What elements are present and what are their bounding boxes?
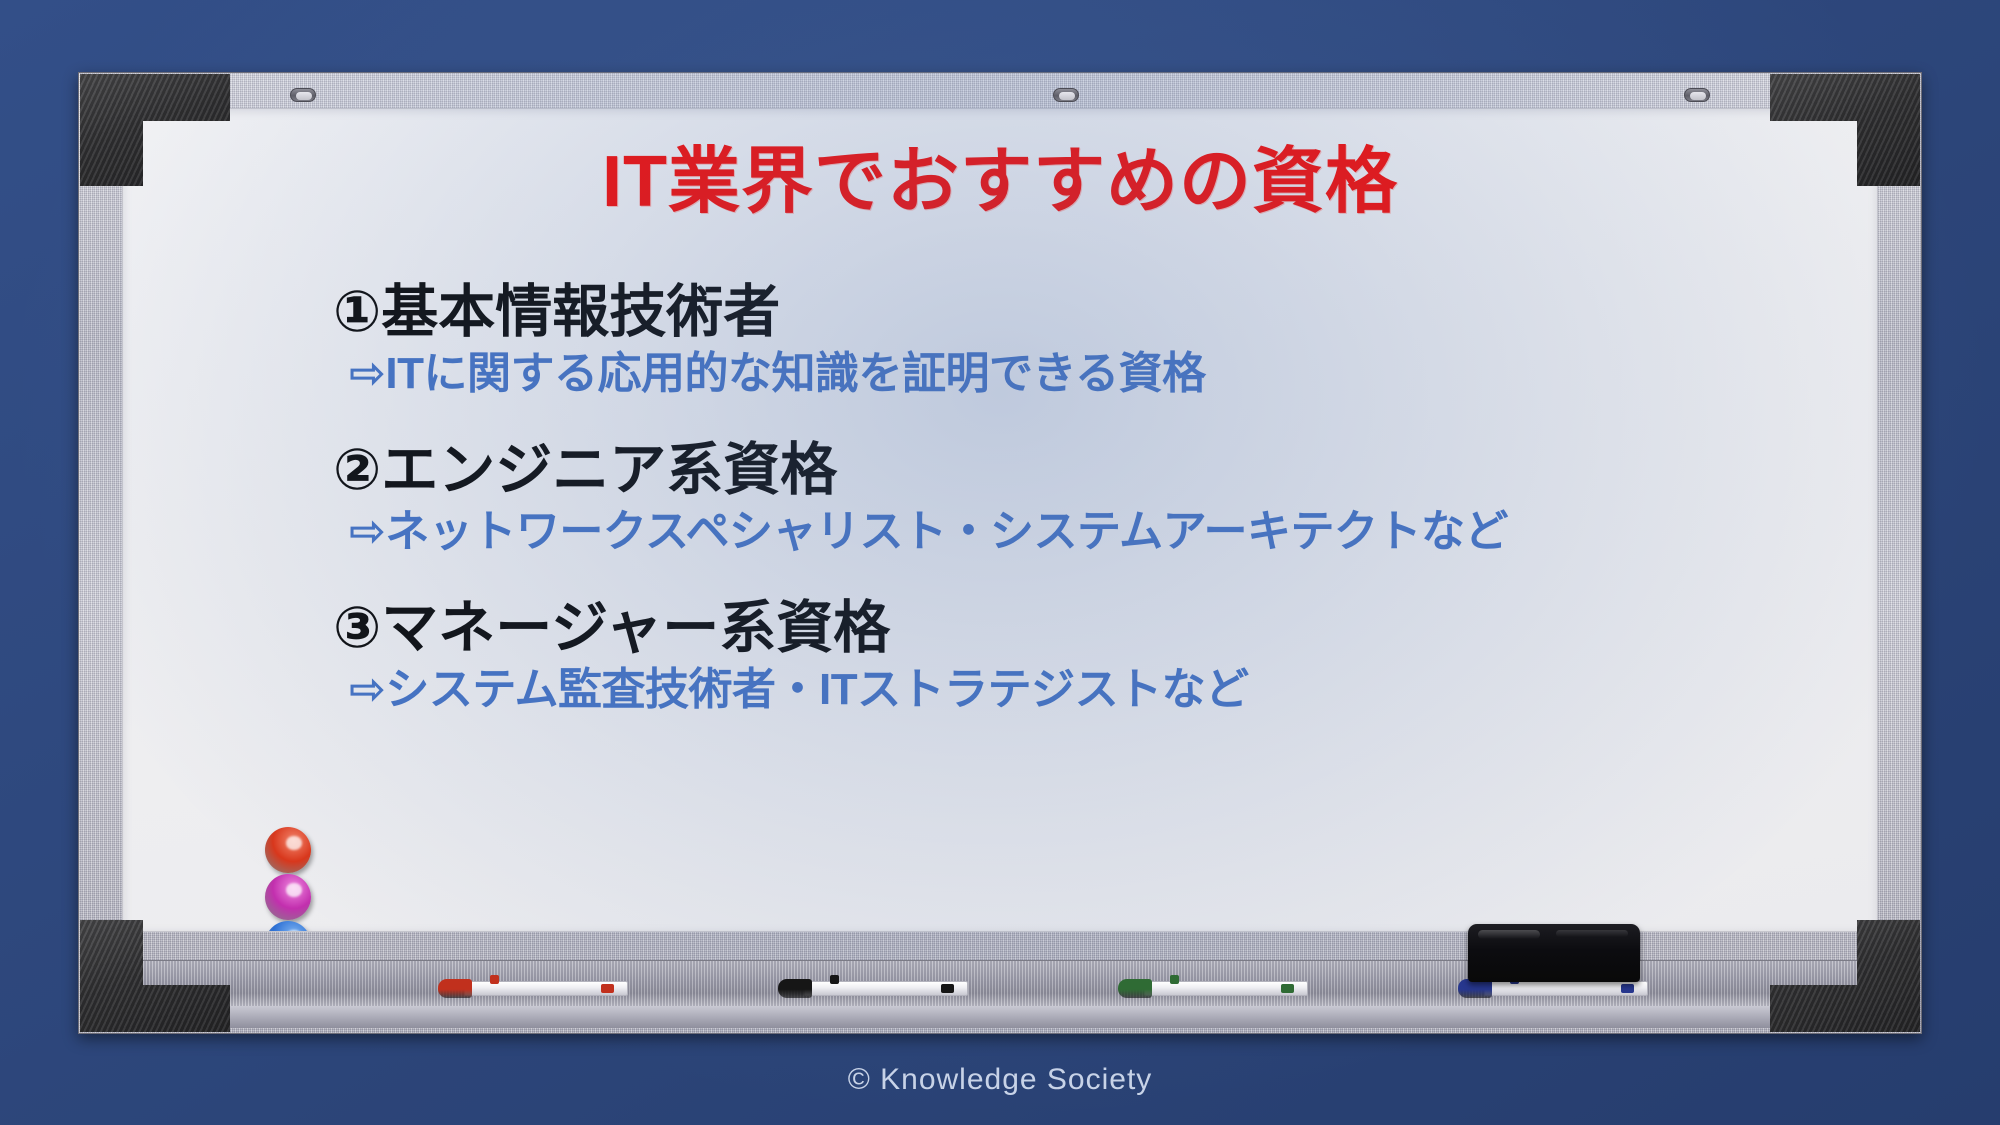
footer-credit: © Knowledge Society <box>0 1063 2000 1097</box>
list-item-description: ⇨ネットワークスペシャリスト・システムアーキテクトなど <box>349 506 1837 559</box>
marker-red-icon <box>438 979 628 998</box>
whiteboard-surface: IT業界でおすすめの資格 ①基本情報技術者 ⇨ITに関する応用的な知識を証明でき… <box>122 108 1878 932</box>
certification-list: ①基本情報技術者 ⇨ITに関する応用的な知識を証明できる資格 ②エンジニア系資格… <box>333 279 1837 753</box>
magnet-strip <box>265 827 321 932</box>
magnet-magenta-icon <box>265 874 311 920</box>
frame-screw <box>1684 88 1710 102</box>
list-item-heading: ③マネージャー系資格 <box>333 595 1837 662</box>
list-item: ①基本情報技術者 ⇨ITに関する応用的な知識を証明できる資格 <box>333 279 1837 401</box>
list-item-description: ⇨ITに関する応用的な知識を証明できる資格 <box>349 348 1837 401</box>
list-item-heading: ①基本情報技術者 <box>333 279 1837 346</box>
list-item: ③マネージャー系資格 ⇨システム監査技術者・ITストラテジストなど <box>333 595 1837 717</box>
list-item-description: ⇨システム監査技術者・ITストラテジストなど <box>349 664 1837 717</box>
whiteboard: IT業界でおすすめの資格 ①基本情報技術者 ⇨ITに関する応用的な知識を証明でき… <box>78 72 1922 1034</box>
slide-content: IT業界でおすすめの資格 ①基本情報技術者 ⇨ITに関する応用的な知識を証明でき… <box>123 109 1877 931</box>
whiteboard-eraser-icon <box>1468 924 1640 982</box>
list-item-heading: ②エンジニア系資格 <box>333 437 1837 504</box>
page-title: IT業界でおすすめの資格 <box>123 143 1877 222</box>
slide-background: IT業界でおすすめの資格 ①基本情報技術者 ⇨ITに関する応用的な知識を証明でき… <box>0 0 2000 1125</box>
frame-screw <box>1053 88 1079 102</box>
magnet-red-icon <box>265 827 311 873</box>
list-item: ②エンジニア系資格 ⇨ネットワークスペシャリスト・システムアーキテクトなど <box>333 437 1837 559</box>
marker-green-icon <box>1118 979 1308 998</box>
magnet-blue-icon <box>265 921 311 932</box>
frame-screw <box>290 88 316 102</box>
pen-tray-lip <box>80 1006 1920 1028</box>
marker-black-icon <box>778 979 968 998</box>
